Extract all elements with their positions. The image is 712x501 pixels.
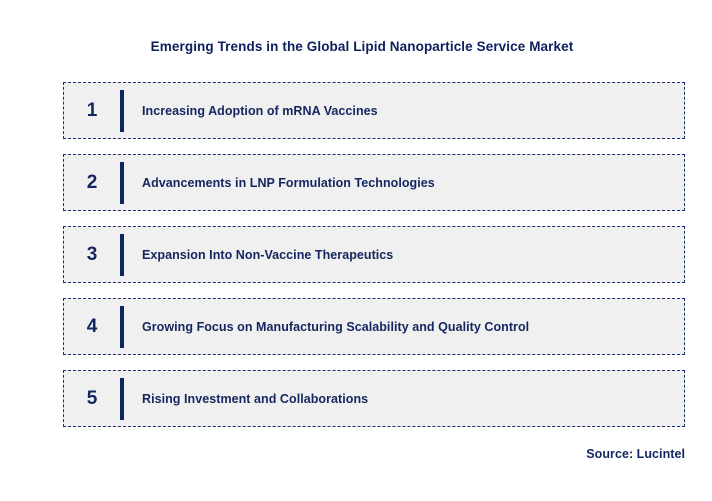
source-attribution: Source: Lucintel [0, 447, 685, 461]
trend-list: 1 Increasing Adoption of mRNA Vaccines 2… [63, 82, 685, 427]
trend-row[interactable]: 1 Increasing Adoption of mRNA Vaccines [63, 82, 685, 139]
trend-row[interactable]: 3 Expansion Into Non-Vaccine Therapeutic… [63, 226, 685, 283]
infographic-page: Emerging Trends in the Global Lipid Nano… [0, 0, 712, 501]
trend-label: Growing Focus on Manufacturing Scalabili… [124, 319, 684, 335]
trend-label: Advancements in LNP Formulation Technolo… [124, 175, 684, 191]
trend-row[interactable]: 5 Rising Investment and Collaborations [63, 370, 685, 427]
trend-label: Increasing Adoption of mRNA Vaccines [124, 103, 684, 119]
trend-row[interactable]: 2 Advancements in LNP Formulation Techno… [63, 154, 685, 211]
trend-row[interactable]: 4 Growing Focus on Manufacturing Scalabi… [63, 298, 685, 355]
trend-label: Rising Investment and Collaborations [124, 391, 684, 407]
trend-number: 5 [64, 389, 120, 408]
page-title: Emerging Trends in the Global Lipid Nano… [0, 38, 712, 56]
trend-number: 1 [64, 101, 120, 120]
trend-label: Expansion Into Non-Vaccine Therapeutics [124, 247, 684, 263]
trend-number: 2 [64, 173, 120, 192]
trend-number: 3 [64, 245, 120, 264]
trend-number: 4 [64, 317, 120, 336]
